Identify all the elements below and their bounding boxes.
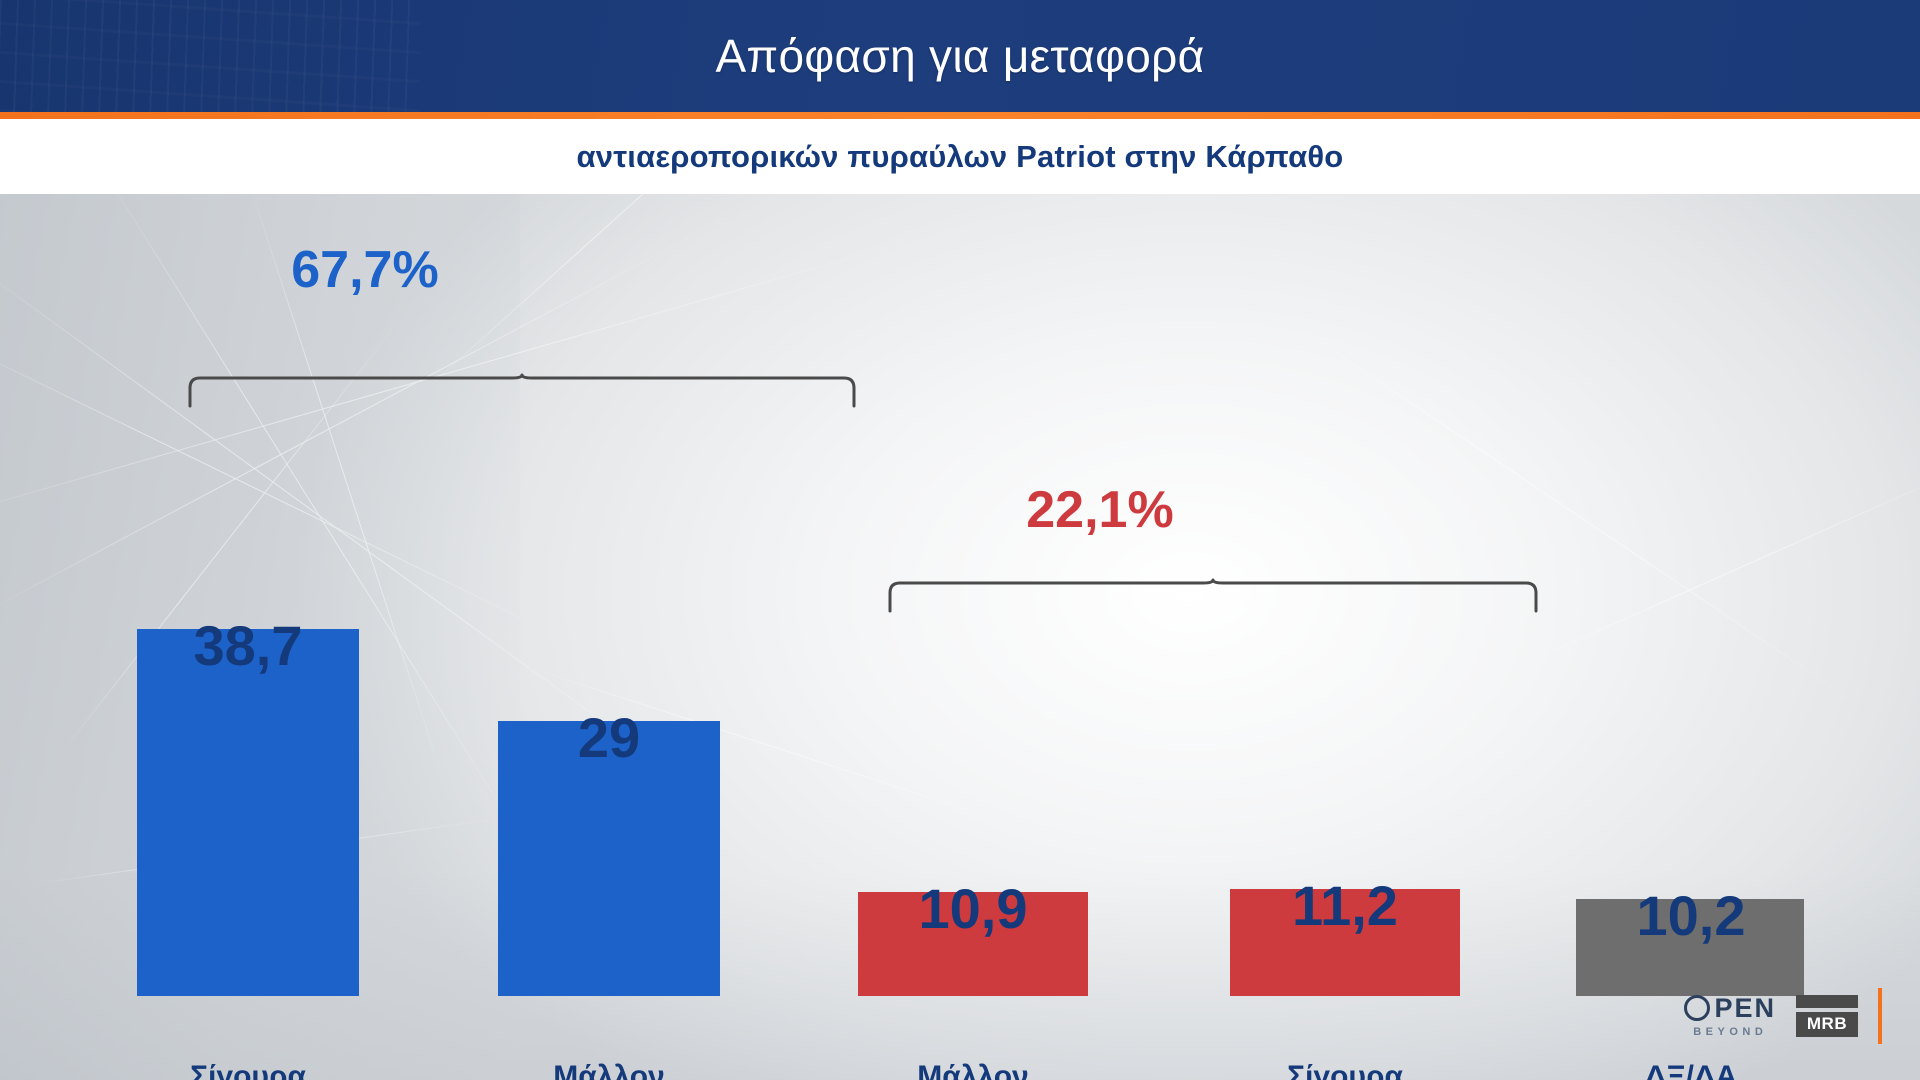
bar-sigoura-sosti (137, 629, 359, 996)
bar-label-mallon-sosti: Μάλλον Σωστή (458, 1060, 760, 1080)
bar-value-dxda: 10,2 (1560, 888, 1822, 944)
group-percentage-negative: 22,1% (950, 484, 1250, 536)
open-o-icon (1684, 995, 1710, 1021)
mrb-logo: MRB (1796, 995, 1858, 1037)
bars-plot: 67,7% 22,1% 38,7 Σίγουρα Σωστή 29 Μάλλον… (0, 194, 1920, 1080)
bar-value-sigoura-sosti: 38,7 (117, 618, 379, 674)
logo-cluster: PEN BEYOND MRB (1684, 988, 1882, 1044)
open-wordmark: PEN (1684, 995, 1776, 1022)
orange-accent-tick (1878, 988, 1882, 1044)
bar-label-dxda: ΔΞ/ΔΑ (1540, 1060, 1842, 1080)
bar-label-sigoura-lathos: Σίγουρα Λάθος (1194, 1060, 1496, 1080)
bracket-positive (188, 374, 856, 408)
bracket-negative (888, 579, 1538, 613)
open-wordmark-text: PEN (1714, 995, 1776, 1022)
bar-value-mallon-lathos: 10,9 (842, 881, 1104, 937)
chart-canvas: 67,7% 22,1% 38,7 Σίγουρα Σωστή 29 Μάλλον… (0, 194, 1920, 1080)
subheader-band: αντιαεροπορικών πυραύλων Patriot στην Κά… (0, 119, 1920, 194)
mrb-rule-icon (1796, 995, 1858, 1008)
accent-divider (0, 112, 1920, 119)
page-title: Απόφαση για μεταφορά (0, 0, 1920, 112)
group-percentage-positive: 67,7% (215, 244, 515, 296)
page-subtitle: αντιαεροπορικών πυραύλων Patriot στην Κά… (577, 139, 1344, 175)
bar-value-sigoura-lathos: 11,2 (1214, 878, 1476, 934)
poll-graphic: Απόφαση για μεταφορά αντιαεροπορικών πυρ… (0, 0, 1920, 1080)
mrb-wordmark: MRB (1796, 1012, 1858, 1037)
open-tagline: BEYOND (1693, 1027, 1767, 1038)
header-banner: Απόφαση για μεταφορά (0, 0, 1920, 112)
bar-label-sigoura-sosti: Σίγουρα Σωστή (97, 1060, 399, 1080)
bar-value-mallon-sosti: 29 (478, 710, 740, 766)
open-beyond-logo: PEN BEYOND (1684, 995, 1776, 1038)
bar-label-mallon-lathos: Μάλλον Λάθος (822, 1060, 1124, 1080)
